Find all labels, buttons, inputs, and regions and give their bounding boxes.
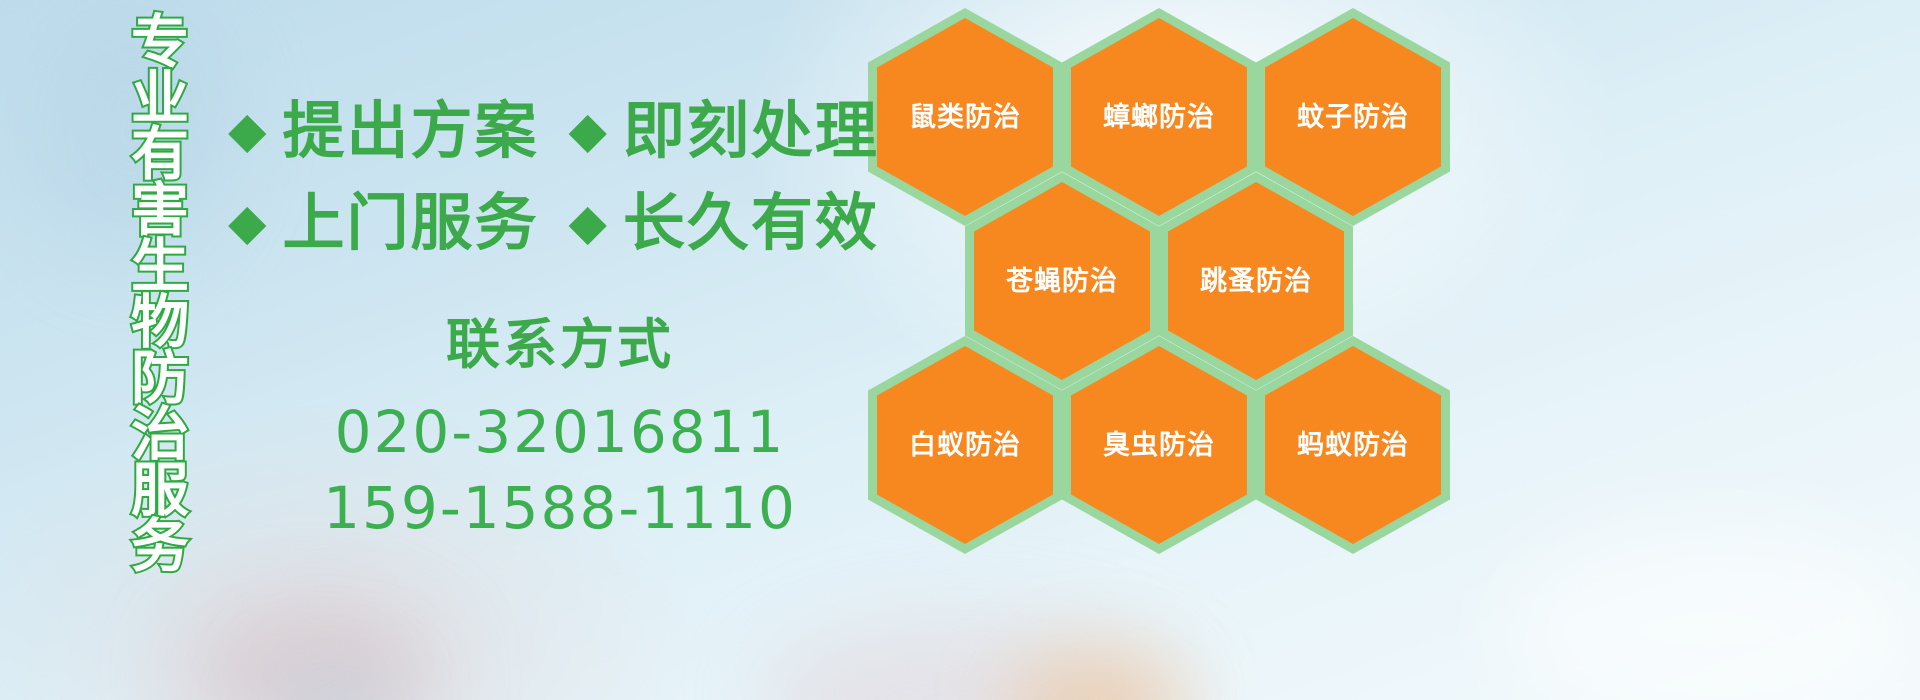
- phone-number-mobile[interactable]: 159-1588-1110: [300, 470, 820, 547]
- hexagon-inner: 跳蚤防治: [1168, 182, 1344, 380]
- feature-label: 上门服务: [282, 193, 538, 255]
- service-label: 鼠类防治: [909, 104, 1021, 131]
- diamond-icon: ◆: [228, 105, 268, 155]
- pest-control-banner: 专 业 有 害 生 物 防 治 服 务 ◆ 提出方案 ◆ 即刻处理 ◆ 上门服务…: [0, 0, 1920, 700]
- contact-title: 联系方式: [300, 312, 820, 380]
- service-label: 蟑螂防治: [1103, 104, 1215, 131]
- service-label: 蚊子防治: [1297, 104, 1409, 131]
- vertical-title: 专 业 有 害 生 物 防 治 服 务: [104, 14, 216, 574]
- vertical-title-char: 生: [131, 238, 189, 294]
- hexagon-inner: 臭虫防治: [1071, 346, 1247, 544]
- vertical-title-char: 服: [131, 462, 189, 518]
- background-blob: [270, 660, 390, 700]
- vertical-title-char: 治: [131, 406, 189, 462]
- feature-label: 即刻处理: [623, 101, 879, 163]
- contact-block: 联系方式 020-32016811 159-1588-1110: [300, 312, 820, 547]
- service-label: 臭虫防治: [1103, 432, 1215, 459]
- feature-row: ◆ 提出方案 ◆ 即刻处理: [228, 86, 883, 178]
- hexagon-inner: 鼠类防治: [877, 18, 1053, 216]
- vertical-title-char: 防: [131, 350, 189, 406]
- vertical-title-char: 物: [131, 294, 189, 350]
- vertical-title-char: 有: [131, 126, 189, 182]
- service-label: 苍蝇防治: [1006, 268, 1118, 295]
- diamond-icon: ◆: [568, 105, 608, 155]
- hexagon-inner: 蚂蚁防治: [1265, 346, 1441, 544]
- service-label: 跳蚤防治: [1200, 268, 1312, 295]
- background-blob: [1500, 520, 1920, 700]
- hexagon-inner: 苍蝇防治: [974, 182, 1150, 380]
- hexagon-inner: 白蚁防治: [877, 346, 1053, 544]
- feature-list: ◆ 提出方案 ◆ 即刻处理 ◆ 上门服务 ◆ 长久有效: [228, 86, 883, 270]
- background-blob: [760, 620, 1180, 700]
- vertical-title-char: 务: [131, 518, 189, 574]
- service-hexagon-cluster: 鼠类防治 蟑螂防治 蚊子防治 苍蝇防治 跳蚤防治 白蚁防治: [860, 0, 1460, 560]
- vertical-title-char: 业: [131, 70, 189, 126]
- background-blob: [1010, 650, 1190, 700]
- feature-label: 提出方案: [282, 101, 538, 163]
- background-blob: [180, 600, 440, 700]
- hexagon-inner: 蚊子防治: [1265, 18, 1441, 216]
- vertical-title-char: 害: [131, 182, 189, 238]
- service-label: 蚂蚁防治: [1297, 432, 1409, 459]
- hexagon-inner: 蟑螂防治: [1071, 18, 1247, 216]
- vertical-title-char: 专: [131, 14, 189, 70]
- service-label: 白蚁防治: [909, 432, 1021, 459]
- diamond-icon: ◆: [228, 197, 268, 247]
- feature-row: ◆ 上门服务 ◆ 长久有效: [228, 178, 883, 270]
- phone-number-landline[interactable]: 020-32016811: [300, 394, 820, 471]
- diamond-icon: ◆: [568, 197, 608, 247]
- feature-label: 长久有效: [623, 193, 879, 255]
